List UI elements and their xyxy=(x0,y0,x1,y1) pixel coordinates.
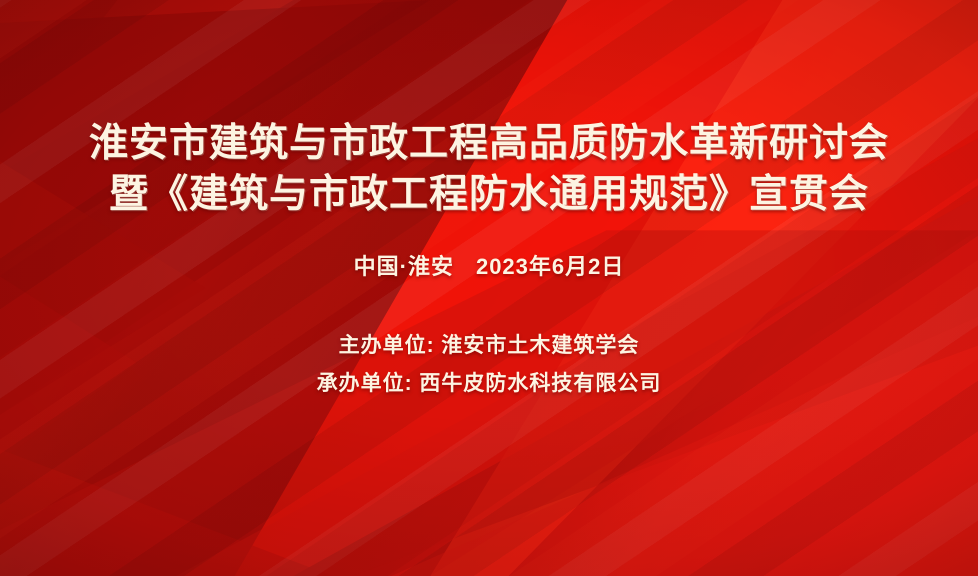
event-title: 淮安市建筑与市政工程高品质防水革新研讨会 暨《建筑与市政工程防水通用规范》宣贯会 xyxy=(0,118,978,220)
banner-content: 淮安市建筑与市政工程高品质防水革新研讨会 暨《建筑与市政工程防水通用规范》宣贯会… xyxy=(0,0,978,576)
event-meta: 中国·淮安2023年6月2日 xyxy=(0,249,978,281)
conference-banner: 淮安市建筑与市政工程高品质防水革新研讨会 暨《建筑与市政工程防水通用规范》宣贯会… xyxy=(0,0,978,576)
event-title-line-1: 淮安市建筑与市政工程高品质防水革新研讨会 xyxy=(0,118,978,169)
organizer-host: 主办单位: 淮安市土木建筑学会 xyxy=(0,327,978,365)
event-date: 2023年6月2日 xyxy=(476,254,624,279)
event-title-line-2: 暨《建筑与市政工程防水通用规范》宣贯会 xyxy=(0,169,978,220)
event-location: 中国·淮安 xyxy=(354,254,454,279)
organizer-coorganizer: 承办单位: 西牛皮防水科技有限公司 xyxy=(0,365,978,403)
organizers: 主办单位: 淮安市土木建筑学会 承办单位: 西牛皮防水科技有限公司 xyxy=(0,327,978,403)
